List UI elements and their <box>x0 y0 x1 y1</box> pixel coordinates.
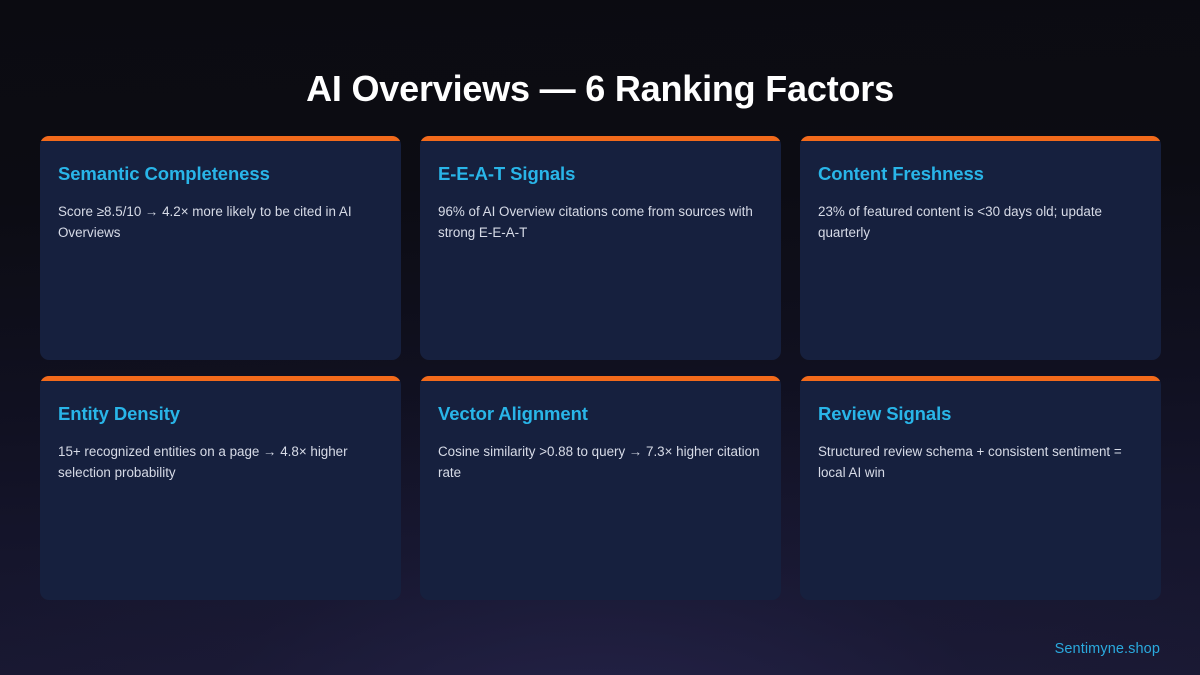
factor-card-entity-density[interactable]: Entity Density 15+ recognized entities o… <box>40 376 401 600</box>
factor-card-e-e-a-t-signals[interactable]: E-E-A-T Signals 96% of AI Overview citat… <box>420 136 781 360</box>
card-title: Review Signals <box>818 402 1143 425</box>
factor-card-review-signals[interactable]: Review Signals Structured review schema … <box>800 376 1161 600</box>
card-body-text: Structured review schema + consistent se… <box>818 441 1143 483</box>
ranking-factor-grid: Semantic Completeness Score ≥8.5/10 → 4.… <box>40 136 1161 600</box>
card-accent-bar <box>800 136 1161 141</box>
card-accent-bar <box>800 376 1161 381</box>
slide-canvas: AI Overviews — 6 Ranking Factors Semanti… <box>0 0 1200 675</box>
card-body-text: Score ≥8.5/10 → 4.2× more likely to be c… <box>58 201 383 243</box>
card-title: Entity Density <box>58 402 383 425</box>
card-accent-bar <box>420 136 781 141</box>
card-title: Semantic Completeness <box>58 162 383 185</box>
card-title: E-E-A-T Signals <box>438 162 763 185</box>
card-title: Content Freshness <box>818 162 1143 185</box>
card-accent-bar <box>40 136 401 141</box>
card-body-text: 96% of AI Overview citations come from s… <box>438 201 763 243</box>
factor-card-content-freshness[interactable]: Content Freshness 23% of featured conten… <box>800 136 1161 360</box>
card-accent-bar <box>420 376 781 381</box>
card-body-text: Cosine similarity >0.88 to query → 7.3× … <box>438 441 763 483</box>
card-body-text: 23% of featured content is <30 days old;… <box>818 201 1143 243</box>
factor-card-semantic-completeness[interactable]: Semantic Completeness Score ≥8.5/10 → 4.… <box>40 136 401 360</box>
card-title: Vector Alignment <box>438 402 763 425</box>
factor-card-vector-alignment[interactable]: Vector Alignment Cosine similarity >0.88… <box>420 376 781 600</box>
page-title: AI Overviews — 6 Ranking Factors <box>0 68 1200 110</box>
card-accent-bar <box>40 376 401 381</box>
footer-brand-link[interactable]: Sentimyne.shop <box>1055 641 1160 657</box>
card-body-text: 15+ recognized entities on a page → 4.8×… <box>58 441 383 483</box>
